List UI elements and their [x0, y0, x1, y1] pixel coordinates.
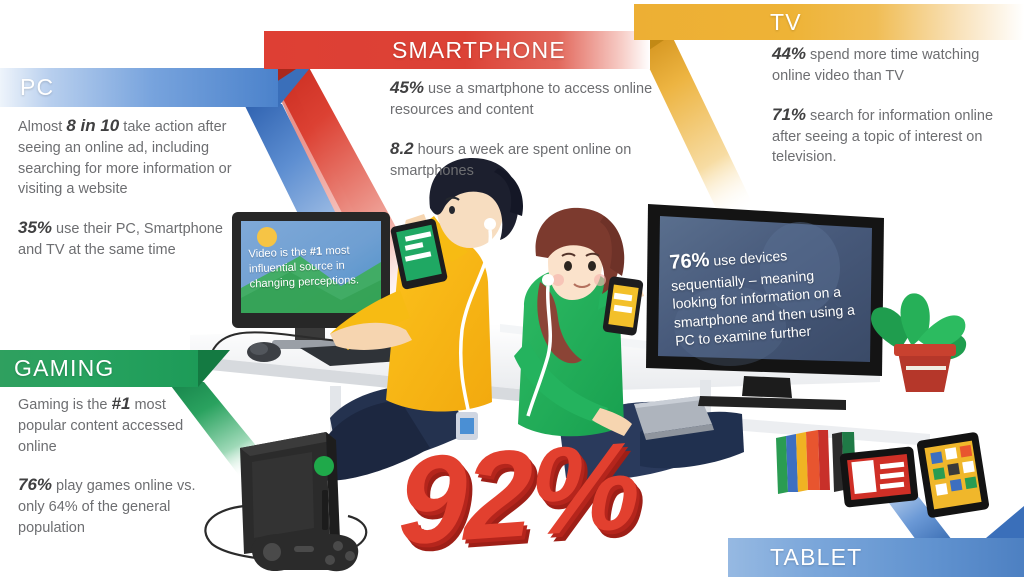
monitor-msg-emph: #1 [310, 246, 323, 258]
potted-plant [871, 293, 966, 392]
laptop [634, 396, 714, 440]
smartphone-stat-1: 45% use a smartphone to access online re… [390, 76, 654, 121]
smartphone-stat-2: 8.2 hours a week are spent online on sma… [390, 137, 654, 182]
tv-banner-label: TV [770, 9, 802, 36]
smartphone-banner-label: SMARTPHONE [392, 37, 566, 64]
gaming-stat-1-value: #1 [112, 394, 131, 413]
section-banner-pc: PC [0, 68, 278, 107]
pc-ray [244, 104, 404, 356]
console-cable [205, 506, 366, 560]
smartphone-stat-1-value: 45% [390, 78, 424, 97]
pc-stat-2: 35% use their PC, Smartphone and TV at t… [18, 216, 236, 261]
tv-banner-bar [634, 4, 1024, 40]
infographic-canvas: 92% PC SMARTPHONE TV GAMING TABLET Almos… [0, 0, 1024, 577]
pc-stat-1: Almost 8 in 10 take action after seeing … [18, 114, 236, 200]
gaming-stat-2-value: 76% [18, 475, 52, 494]
keyboard-mat [300, 340, 470, 366]
smartphone-stat-2-rest: hours a week are spent online on smartph… [390, 142, 631, 179]
game-controller [252, 534, 358, 571]
tv-stats-text: 44% spend more time watching online vide… [772, 42, 1010, 184]
tablet-ray [862, 452, 952, 540]
pc-stats-text: Almost 8 in 10 take action after seeing … [18, 114, 236, 277]
monitor-msg-lead: Video is the [248, 246, 310, 260]
pc-stat-1-lead: Almost [18, 119, 66, 135]
monitor-cable [212, 332, 372, 352]
smartphone-stats-text: 45% use a smartphone to access online re… [390, 76, 654, 197]
womans-smartphone [602, 276, 643, 336]
pc-banner-label: PC [20, 74, 54, 101]
section-banner-gaming: GAMING [0, 350, 198, 387]
yellow-tablet [916, 432, 989, 519]
smartphone-stat-1-rest: use a smartphone to access online resour… [390, 81, 652, 118]
tv-stat-2: 71% search for information online after … [772, 103, 1010, 168]
big-percent-stat: 92% [398, 424, 637, 565]
tv-stat-1: 44% spend more time watching online vide… [772, 42, 1010, 87]
tablet-ribbon-fold [986, 506, 1024, 538]
gaming-banner-label: GAMING [14, 355, 114, 382]
gaming-stat-2: 76% play games online vs. only 64% of th… [18, 473, 208, 538]
pc-stat-2-value: 35% [18, 218, 52, 237]
bookshelf-books [776, 430, 856, 494]
tv-screen-message: 76% use devices sequentially – meaning l… [669, 236, 862, 350]
game-console [240, 432, 340, 554]
computer-mouse [247, 342, 281, 362]
section-banner-tablet: TABLET [728, 538, 1024, 577]
pc-stat-1-value: 8 in 10 [66, 116, 119, 135]
monitor-screen-message: Video is the #1 most influential source … [248, 243, 378, 292]
tv-stat-2-rest: search for information online after seei… [772, 108, 993, 166]
gaming-ribbon-fold [198, 350, 230, 387]
gaming-stats-text: Gaming is the #1 most popular content ac… [18, 392, 208, 555]
tv-ray [634, 36, 768, 246]
tablet-banner-label: TABLET [770, 544, 862, 571]
gaming-stat-1-lead: Gaming is the [18, 397, 112, 413]
pc-ribbon-fold [278, 68, 310, 107]
tv-msg-percent: 76% [669, 249, 711, 274]
smartphone-stat-2-value: 8.2 [390, 139, 414, 158]
gaming-stat-1: Gaming is the #1 most popular content ac… [18, 392, 208, 457]
section-banner-smartphone: SMARTPHONE [264, 31, 650, 69]
mans-tablet [390, 218, 448, 290]
section-banner-tv: TV [634, 4, 1024, 40]
red-tablet [839, 446, 918, 507]
tv-stat-2-value: 71% [772, 105, 806, 124]
tv-stat-1-value: 44% [772, 44, 806, 63]
